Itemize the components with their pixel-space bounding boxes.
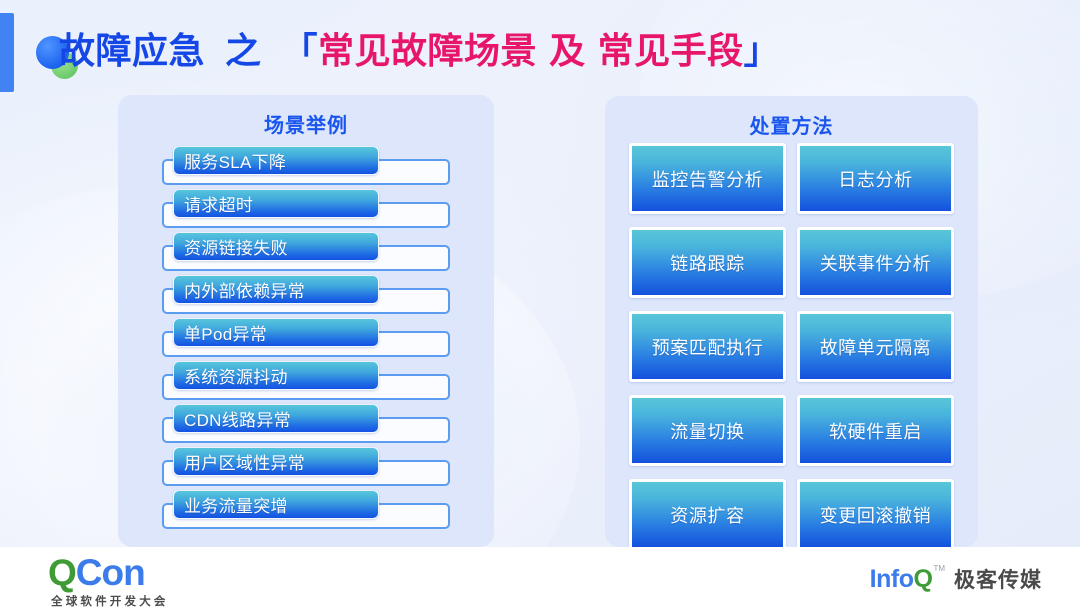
scenario-panel: 场景举例 服务SLA下降请求超时资源链接失败内外部依赖异常单Pod异常系统资源抖… <box>118 95 494 547</box>
scenario-pill[interactable]: 单Pod异常 <box>173 318 379 347</box>
scenario-label: 内外部依赖异常 <box>174 277 305 302</box>
method-card[interactable]: 预案匹配执行 <box>629 311 786 382</box>
scenario-row[interactable]: 业务流量突增 <box>118 488 494 531</box>
scenario-label: 请求超时 <box>174 191 253 216</box>
page-title: 故障应急 之 「 常见故障场景 及 常见手段 」 <box>59 20 780 76</box>
scenario-label: 单Pod异常 <box>174 320 267 345</box>
title-highlight-mid: 及 <box>549 22 586 74</box>
title-highlight1: 常见故障场景 <box>318 22 537 74</box>
method-grid: 监控告警分析日志分析链路跟踪关联事件分析预案匹配执行故障单元隔离流量切换软硬件重… <box>629 143 954 547</box>
method-label: 监控告警分析 <box>652 166 764 192</box>
scenario-label: 用户区域性异常 <box>174 449 305 474</box>
scenario-pill[interactable]: 系统资源抖动 <box>173 361 379 390</box>
slide-root: 故障应急 之 「 常见故障场景 及 常见手段 」 场景举例 服务SLA下降请求超… <box>0 0 1080 609</box>
method-panel: 处置方法 监控告警分析日志分析链路跟踪关联事件分析预案匹配执行故障单元隔离流量切… <box>605 96 978 547</box>
scenario-label: 系统资源抖动 <box>174 363 288 388</box>
trademark-icon: TM <box>933 564 945 573</box>
footer-bar: QCon 全球软件开发大会 InfoQTM 极客传媒 <box>0 547 1080 609</box>
method-card[interactable]: 流量切换 <box>629 395 786 466</box>
method-panel-title: 处置方法 <box>605 110 978 139</box>
method-label: 资源扩容 <box>670 502 744 528</box>
infoq-chinese-name: 极客传媒 <box>954 564 1042 594</box>
qcon-logo: QCon 全球软件开发大会 <box>48 554 278 609</box>
title-highlight2: 常见手段 <box>598 22 744 74</box>
scenario-row[interactable]: 服务SLA下降 <box>118 144 494 187</box>
scenario-pill[interactable]: 业务流量突增 <box>173 490 379 519</box>
method-card[interactable]: 软硬件重启 <box>797 395 954 466</box>
method-label: 关联事件分析 <box>820 250 932 276</box>
method-label: 故障单元隔离 <box>820 334 932 360</box>
scenario-list: 服务SLA下降请求超时资源链接失败内外部依赖异常单Pod异常系统资源抖动CDN线… <box>118 144 494 531</box>
scenario-row[interactable]: 资源链接失败 <box>118 230 494 273</box>
method-card[interactable]: 资源扩容 <box>629 479 786 547</box>
scenario-pill[interactable]: 服务SLA下降 <box>173 146 379 175</box>
qcon-wordmark: QCon <box>48 554 278 592</box>
method-label: 变更回滚撤销 <box>820 502 932 528</box>
method-card[interactable]: 变更回滚撤销 <box>797 479 954 547</box>
title-part2: 之 <box>225 22 262 74</box>
qcon-logo-con: Con <box>76 552 145 593</box>
scenario-pill[interactable]: CDN线路异常 <box>173 404 379 433</box>
method-label: 日志分析 <box>838 166 912 192</box>
method-label: 预案匹配执行 <box>652 334 764 360</box>
method-card[interactable]: 关联事件分析 <box>797 227 954 298</box>
infoq-q-text: Q <box>913 565 932 594</box>
qcon-logo-q: Q <box>48 552 76 593</box>
method-card[interactable]: 链路跟踪 <box>629 227 786 298</box>
method-label: 链路跟踪 <box>670 250 744 276</box>
scenario-label: 服务SLA下降 <box>174 148 286 173</box>
title-bracket-close: 」 <box>744 22 781 74</box>
method-label: 软硬件重启 <box>829 418 922 444</box>
title-part1: 故障应急 <box>59 22 205 74</box>
scenario-row[interactable]: 内外部依赖异常 <box>118 273 494 316</box>
scenario-pill[interactable]: 内外部依赖异常 <box>173 275 379 304</box>
scenario-row[interactable]: CDN线路异常 <box>118 402 494 445</box>
method-label: 流量切换 <box>670 418 744 444</box>
infoq-info-text: Info <box>870 565 914 594</box>
qcon-subtitle: 全球软件开发大会 <box>51 593 278 609</box>
method-card[interactable]: 监控告警分析 <box>629 143 786 214</box>
infoq-logo: InfoQTM 极客传媒 <box>870 564 1042 594</box>
scenario-row[interactable]: 系统资源抖动 <box>118 359 494 402</box>
method-card[interactable]: 日志分析 <box>797 143 954 214</box>
scenario-row[interactable]: 单Pod异常 <box>118 316 494 359</box>
scenario-label: 业务流量突增 <box>174 492 288 517</box>
scenario-pill[interactable]: 请求超时 <box>173 189 379 218</box>
title-bracket-open: 「 <box>282 22 319 74</box>
scenario-label: 资源链接失败 <box>174 234 288 259</box>
scenario-row[interactable]: 用户区域性异常 <box>118 445 494 488</box>
method-card[interactable]: 故障单元隔离 <box>797 311 954 382</box>
scenario-row[interactable]: 请求超时 <box>118 187 494 230</box>
accent-bar <box>0 13 14 92</box>
scenario-label: CDN线路异常 <box>174 406 291 431</box>
scenario-panel-title: 场景举例 <box>118 109 494 138</box>
scenario-pill[interactable]: 资源链接失败 <box>173 232 379 261</box>
scenario-pill[interactable]: 用户区域性异常 <box>173 447 379 476</box>
